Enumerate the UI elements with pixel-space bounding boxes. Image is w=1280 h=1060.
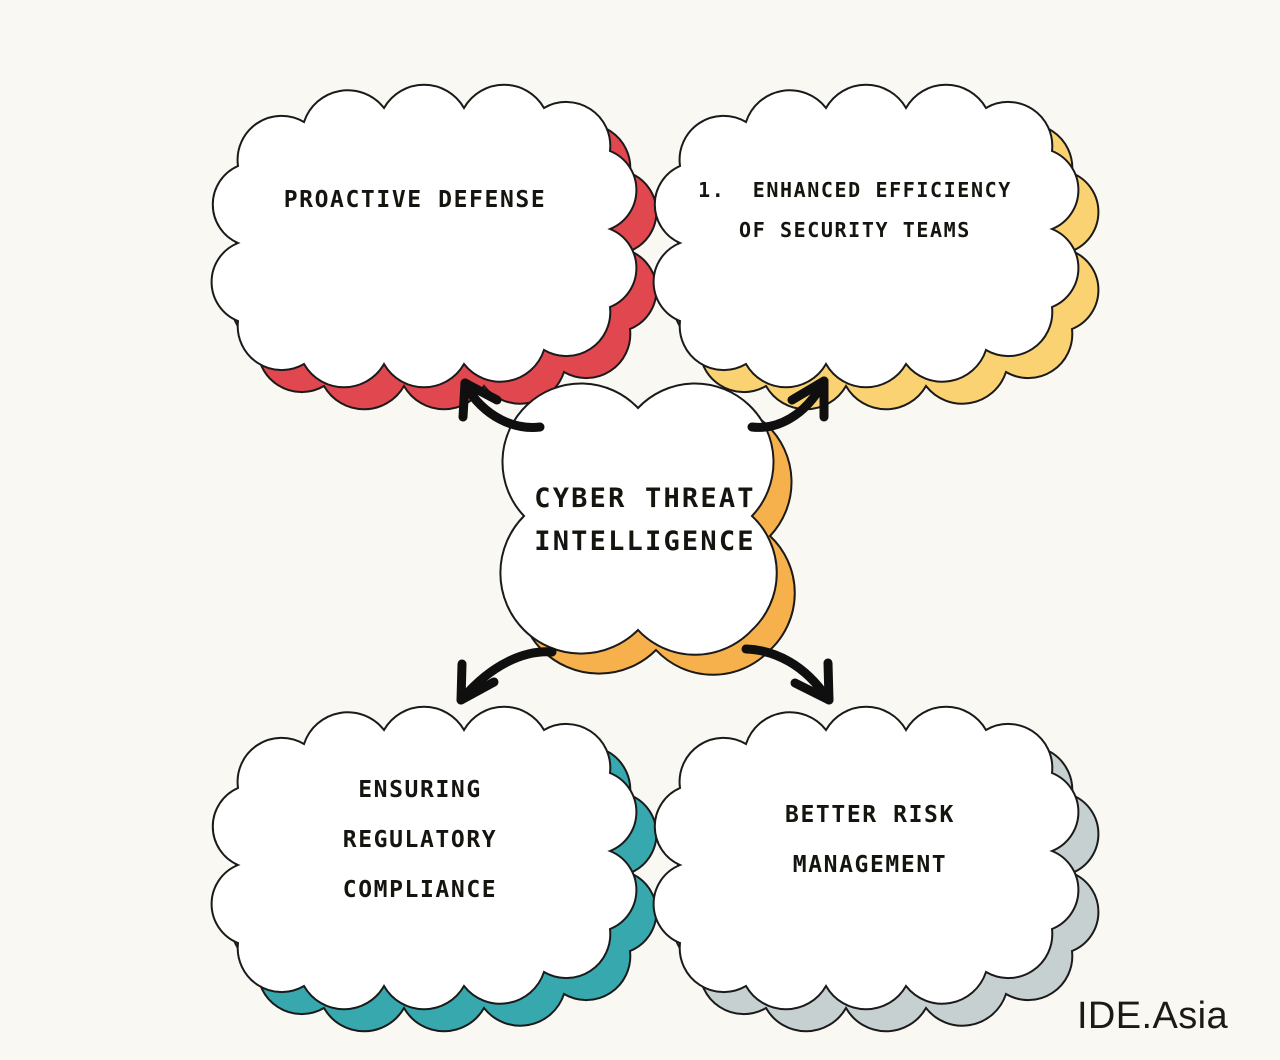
arrows-layer <box>0 0 1280 1060</box>
arrow-to-regulatory-compliance <box>461 652 552 700</box>
arrow-to-proactive-defense <box>463 383 540 427</box>
watermark: IDE.Asia <box>1077 995 1228 1038</box>
diagram-canvas: PROACTIVE DEFENSE 1. ENHANCED EFFICIENCY… <box>0 0 1280 1060</box>
arrow-to-better-risk-management <box>746 649 829 700</box>
arrow-to-enhanced-efficiency <box>752 381 824 427</box>
